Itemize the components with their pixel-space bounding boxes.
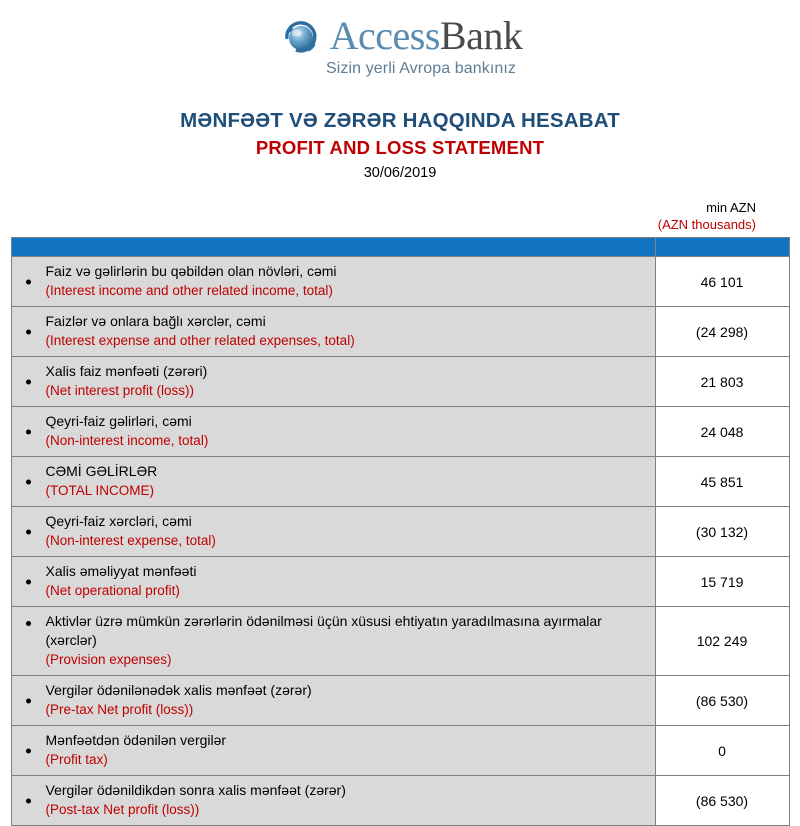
row-value-cell: 46 101: [655, 257, 789, 307]
row-label-az: Qeyri-faiz xərcləri, cəmi: [46, 512, 647, 531]
table-row: Qeyri-faiz gəlirləri, cəmi(Non-interest …: [11, 407, 789, 457]
row-value-cell: 0: [655, 726, 789, 776]
row-label-az: Faiz və gəlirlərin bu qəbildən olan növl…: [46, 262, 647, 281]
row-label-az: Faizlər və onlara bağlı xərclər, cəmi: [46, 312, 647, 331]
row-label-cell: Qeyri-faiz xərcləri, cəmi(Non-interest e…: [11, 507, 655, 557]
table-row: Mənfəətdən ödənilən vergilər(Profit tax)…: [11, 726, 789, 776]
table-row: Xalis əməliyyat mənfəəti(Net operational…: [11, 557, 789, 607]
table-row: Faiz və gəlirlərin bu qəbildən olan növl…: [11, 257, 789, 307]
row-label-az: Xalis əməliyyat mənfəəti: [46, 562, 647, 581]
table-header-bar-value-cell: [655, 238, 789, 257]
row-label-az-cont: (xərclər): [46, 631, 647, 650]
table-row: CƏMİ GƏLİRLƏR(TOTAL INCOME)45 851: [11, 457, 789, 507]
row-label-en: (Non-interest expense, total): [46, 531, 647, 550]
row-label-az: Mənfəətdən ödənilən vergilər: [46, 731, 647, 750]
row-value-cell: (24 298): [655, 307, 789, 357]
row-label-az: Xalis faiz mənfəəti (zərəri): [46, 362, 647, 381]
row-label-az: CƏMİ GƏLİRLƏR: [46, 462, 647, 481]
bullet-icon: [26, 429, 31, 434]
row-label-en: (Provision expenses): [46, 650, 647, 669]
report-date: 30/06/2019: [0, 163, 800, 183]
row-value-cell: 15 719: [655, 557, 789, 607]
document-titles: MƏNFƏƏT VƏ ZƏRƏR HAQQINDA HESABAT PROFIT…: [0, 108, 800, 183]
table-row: Vergilər ödənildikdən sonra xalis mənfəə…: [11, 776, 789, 826]
row-label-en: (Net interest profit (loss)): [46, 381, 647, 400]
row-value-cell: (86 530): [655, 776, 789, 826]
row-label-cell: Vergilər ödənilənədək xalis mənfəət (zər…: [11, 676, 655, 726]
profit-loss-table: Faiz və gəlirlərin bu qəbildən olan növl…: [11, 237, 790, 826]
currency-unit-en: (AZN thousands): [0, 216, 756, 233]
table-row: Faizlər və onlara bağlı xərclər, cəmi(In…: [11, 307, 789, 357]
row-label-cell: Faiz və gəlirlərin bu qəbildən olan növl…: [11, 257, 655, 307]
row-label-en: (Interest expense and other related expe…: [46, 331, 647, 350]
table-row: Xalis faiz mənfəəti (zərəri)(Net interes…: [11, 357, 789, 407]
logo-word-access: Access: [330, 13, 440, 58]
row-label-en: (Interest income and other related incom…: [46, 281, 647, 300]
row-label-cell: Xalis faiz mənfəəti (zərəri)(Net interes…: [11, 357, 655, 407]
logo-word-bank: Bank: [440, 13, 522, 58]
row-label-en: (Non-interest income, total): [46, 431, 647, 450]
row-label-az: Qeyri-faiz gəlirləri, cəmi: [46, 412, 647, 431]
logo-row: AccessBank: [278, 14, 523, 58]
row-label-cell: Vergilər ödənildikdən sonra xalis mənfəə…: [11, 776, 655, 826]
bullet-icon: [26, 698, 31, 703]
row-label-en: (Pre-tax Net profit (loss)): [46, 700, 647, 719]
row-label-cell: Faizlər və onlara bağlı xərclər, cəmi(In…: [11, 307, 655, 357]
table-header-bar-label-cell: [11, 238, 655, 257]
row-label-cell: Mənfəətdən ödənilən vergilər(Profit tax): [11, 726, 655, 776]
brand-header: AccessBank Sizin yerli Avropa bankınız: [0, 0, 800, 78]
table-row: Qeyri-faiz xərcləri, cəmi(Non-interest e…: [11, 507, 789, 557]
bullet-icon: [26, 529, 31, 534]
row-label-az: Vergilər ödənildikdən sonra xalis mənfəə…: [46, 781, 647, 800]
row-label-cell: Qeyri-faiz gəlirləri, cəmi(Non-interest …: [11, 407, 655, 457]
row-label-en: (Net operational profit): [46, 581, 647, 600]
bullet-icon: [26, 579, 31, 584]
page-title-az: MƏNFƏƏT VƏ ZƏRƏR HAQQINDA HESABAT: [0, 108, 800, 134]
row-label-cell: Aktivlər üzrə mümkün zərərlərin ödənilmə…: [11, 607, 655, 676]
globe-refresh-icon: [278, 14, 324, 58]
table-header-bar: [11, 238, 789, 257]
bullet-icon: [26, 479, 31, 484]
row-label-cell: CƏMİ GƏLİRLƏR(TOTAL INCOME): [11, 457, 655, 507]
brand-tagline: Sizin yerli Avropa bankınız: [326, 60, 516, 78]
bullet-icon: [26, 379, 31, 384]
table-row: Vergilər ödənilənədək xalis mənfəət (zər…: [11, 676, 789, 726]
row-label-az: Aktivlər üzrə mümkün zərərlərin ödənilmə…: [46, 612, 647, 631]
row-value-cell: (30 132): [655, 507, 789, 557]
bullet-icon: [26, 798, 31, 803]
bullet-icon: [26, 621, 31, 626]
row-value-cell: 45 851: [655, 457, 789, 507]
row-label-az: Vergilər ödənilənədək xalis mənfəət (zər…: [46, 681, 647, 700]
page-title-en: PROFIT AND LOSS STATEMENT: [0, 136, 800, 160]
row-value-cell: 24 048: [655, 407, 789, 457]
bullet-icon: [26, 279, 31, 284]
row-value-cell: 102 249: [655, 607, 789, 676]
row-value-cell: 21 803: [655, 357, 789, 407]
currency-note: min AZN (AZN thousands): [0, 199, 800, 233]
row-label-en: (Post-tax Net profit (loss)): [46, 800, 647, 819]
row-label-en: (TOTAL INCOME): [46, 481, 647, 500]
bullet-icon: [26, 748, 31, 753]
table-row: Aktivlər üzrə mümkün zərərlərin ödənilmə…: [11, 607, 789, 676]
row-label-en: (Profit tax): [46, 750, 647, 769]
bullet-icon: [26, 329, 31, 334]
row-value-cell: (86 530): [655, 676, 789, 726]
row-label-cell: Xalis əməliyyat mənfəəti(Net operational…: [11, 557, 655, 607]
logo-wordmark: AccessBank: [330, 14, 523, 58]
currency-unit-az: min AZN: [0, 199, 756, 216]
